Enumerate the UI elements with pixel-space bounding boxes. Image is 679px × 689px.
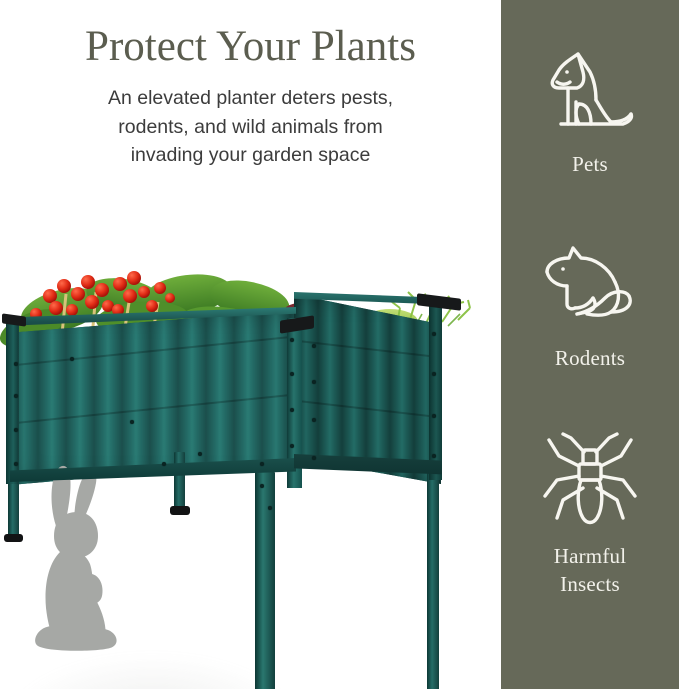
page-subtitle: An elevated planter deters pests, rodent… [38, 84, 463, 170]
feature-label-harmful-insects: Harmful Insects [554, 542, 627, 598]
feature-sidebar: Pets [501, 0, 679, 689]
feature-label-pets: Pets [572, 150, 608, 178]
bolt [14, 362, 18, 366]
bolt [290, 408, 294, 412]
bolt [70, 357, 74, 361]
bolt [198, 452, 202, 456]
rabbit-silhouette-icon [30, 460, 134, 660]
planter-leg [427, 472, 439, 689]
bolt [260, 484, 264, 488]
dog-icon [535, 42, 645, 138]
bolt [268, 506, 272, 510]
feature-label-line: Harmful [554, 542, 627, 570]
bolt [432, 454, 436, 458]
feature-pets[interactable]: Pets [501, 0, 679, 178]
subtitle-line-2: rodents, and wild animals from [38, 113, 463, 142]
rodent-icon [535, 236, 645, 332]
bolt [312, 380, 316, 384]
planter-leg [174, 452, 185, 509]
bolt [14, 394, 18, 398]
bolt [312, 418, 316, 422]
planter-leg [255, 472, 275, 689]
feature-label-rodents: Rodents [555, 344, 625, 372]
leg-foot-cap [170, 506, 190, 515]
bolt [312, 456, 316, 460]
feature-label-line: Rodents [555, 344, 625, 372]
page-title: Protect Your Plants [0, 22, 501, 72]
insect-icon [535, 430, 645, 530]
left-content-panel: Protect Your Plants An elevated planter … [0, 0, 501, 689]
bolt [290, 444, 294, 448]
feature-rodents[interactable]: Rodents [501, 178, 679, 372]
feature-harmful-insects[interactable]: Harmful Insects [501, 372, 679, 598]
subtitle-line-1: An elevated planter deters pests, [38, 84, 463, 113]
bolt [290, 372, 294, 376]
bolt [432, 372, 436, 376]
bolt [312, 344, 316, 348]
bolt [260, 462, 264, 466]
bolt [290, 338, 294, 342]
feature-label-line: Pets [572, 150, 608, 178]
bolt [162, 462, 166, 466]
subtitle-line-3: invading your garden space [38, 141, 463, 170]
planter-corner-post [6, 318, 18, 484]
bolt [14, 428, 18, 432]
bolt [14, 462, 18, 466]
product-photo [0, 222, 501, 689]
feature-label-line: Insects [554, 570, 627, 598]
leg-foot-cap [4, 534, 23, 542]
planter-corner-post [429, 304, 442, 480]
bolt [432, 332, 436, 336]
bolt [130, 420, 134, 424]
marketing-infographic: Protect Your Plants An elevated planter … [0, 0, 679, 689]
bolt [432, 414, 436, 418]
